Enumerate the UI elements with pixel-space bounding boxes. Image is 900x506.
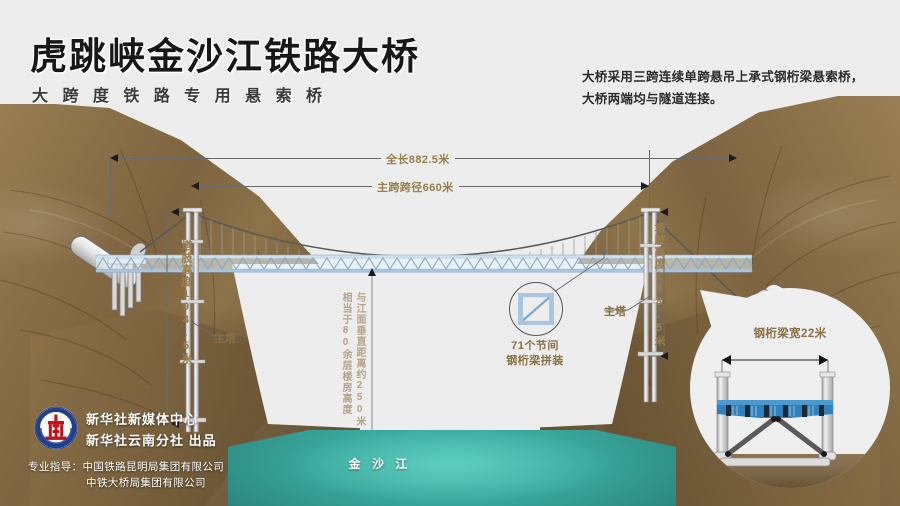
cable-hangers [200,216,640,256]
credit-advisor-line-2: 中铁大桥局集团有限公司 [86,475,206,490]
tower-leader-lines [192,296,650,336]
river-name-label: 金 沙 江 [330,455,430,472]
description-line-2: 大桥两端均与隧道连接。 [582,88,864,110]
deck-cross-section-inset [690,288,890,488]
credit-org-line-1: 新华社新媒体中心 [86,409,198,428]
tower-label-left: 主塔 [214,330,236,346]
credit-org-line-2: 新华社云南分社 出品 [86,430,217,449]
page-subtitle: 大 跨 度 铁 路 专 用 悬 索 桥 [32,82,327,106]
description-block: 大桥采用三跨连续单跨悬吊上承式钢桁梁悬索桥， 大桥两端均与隧道连接。 [582,66,864,110]
river-clearance-label-1: 与江面垂直距离约250米 [352,292,367,427]
truss-detail-circle [509,282,563,336]
left-tower-height-label: 塔肢高度194.5米 [178,240,194,365]
river-clearance-label-2: 相当于80余层楼房高度 [338,292,353,415]
deck-width-label: 钢桁梁宽22米 [690,325,890,341]
description-line-1: 大桥采用三跨连续单跨悬吊上承式钢桁梁悬索桥， [582,66,864,88]
left-tower-arrow-up [171,208,179,216]
xinhua-logo [34,406,78,450]
truss-detail-label-1: 71个节间 [498,337,572,353]
right-tower-height-label: 塔肢高度148.5米 [651,222,667,347]
jinsha-river [228,430,676,506]
page-title: 虎跳峡金沙江铁路大桥 [30,26,420,80]
truss-detail-label-2: 钢桁梁拼装 [488,352,582,368]
credit-advisor-line-1: 专业指导：中国铁路昆明局集团有限公司 [28,459,224,474]
tower-label-right: 主塔 [604,303,626,319]
infographic-canvas: 全长882.5米 主跨跨径660米 [0,0,900,506]
